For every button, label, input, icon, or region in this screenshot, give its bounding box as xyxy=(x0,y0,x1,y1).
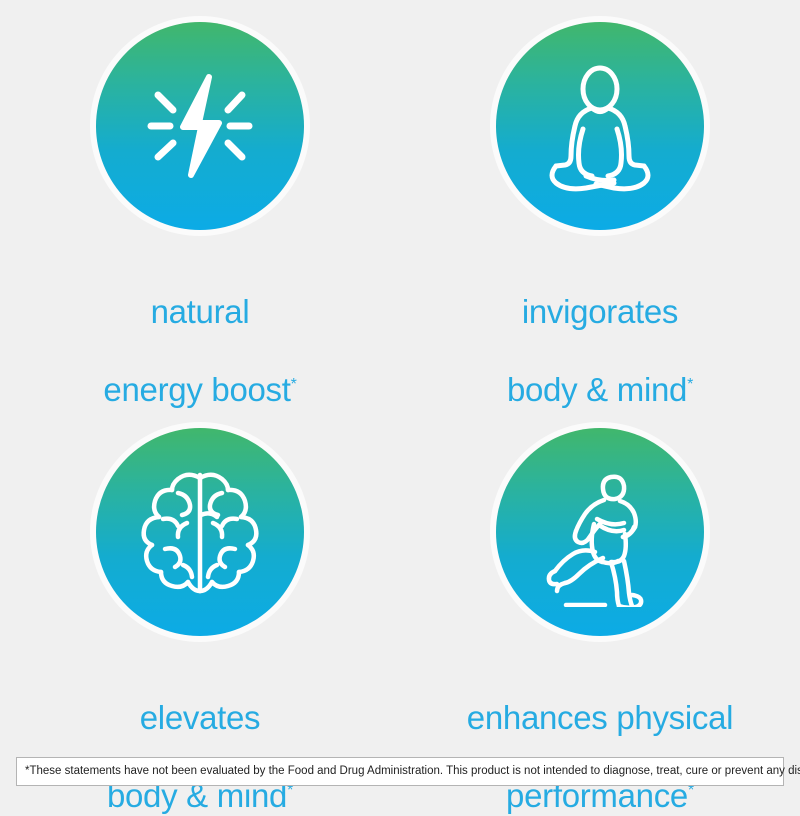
meditating-person-icon xyxy=(525,51,675,201)
benefit-card-enhances-physical-performance: enhances physical performance* xyxy=(400,410,800,816)
footnote-marker: * xyxy=(291,376,297,393)
benefit-label-line1: enhances physical xyxy=(467,699,733,736)
icon-circle-energy xyxy=(96,22,304,230)
brain-icon xyxy=(125,457,275,607)
icon-circle-runner xyxy=(496,428,704,636)
benefit-card-elevates-body-mind: elevates body & mind* xyxy=(0,410,400,816)
benefit-label-line2: body & mind xyxy=(507,371,687,408)
benefit-label-line2: energy boost xyxy=(103,371,290,408)
footnote-marker: * xyxy=(687,376,693,393)
benefit-card-invigorates-body-mind: invigorates body & mind* xyxy=(400,0,800,410)
icon-circle-brain xyxy=(96,428,304,636)
benefit-label-enhances-physical-performance: enhances physical performance* xyxy=(467,660,733,816)
fda-disclaimer-text: *These statements have not been evaluate… xyxy=(25,765,800,777)
running-person-icon xyxy=(525,457,675,607)
benefit-card-natural-energy-boost: natural energy boost* xyxy=(0,0,400,410)
benefit-label-line1: elevates xyxy=(140,699,261,736)
benefit-label-line1: invigorates xyxy=(522,293,678,330)
icon-circle-meditation xyxy=(496,22,704,230)
lightning-bolt-icon xyxy=(125,51,275,201)
benefit-label-elevates-body-mind: elevates body & mind* xyxy=(107,660,293,816)
benefit-label-line1: natural xyxy=(151,293,250,330)
benefits-grid: natural energy boost* invig xyxy=(0,0,800,740)
benefit-label-invigorates-body-mind: invigorates body & mind* xyxy=(507,254,693,410)
fda-disclaimer-box: *These statements have not been evaluate… xyxy=(16,757,784,786)
benefit-label-natural-energy-boost: natural energy boost* xyxy=(103,254,296,410)
